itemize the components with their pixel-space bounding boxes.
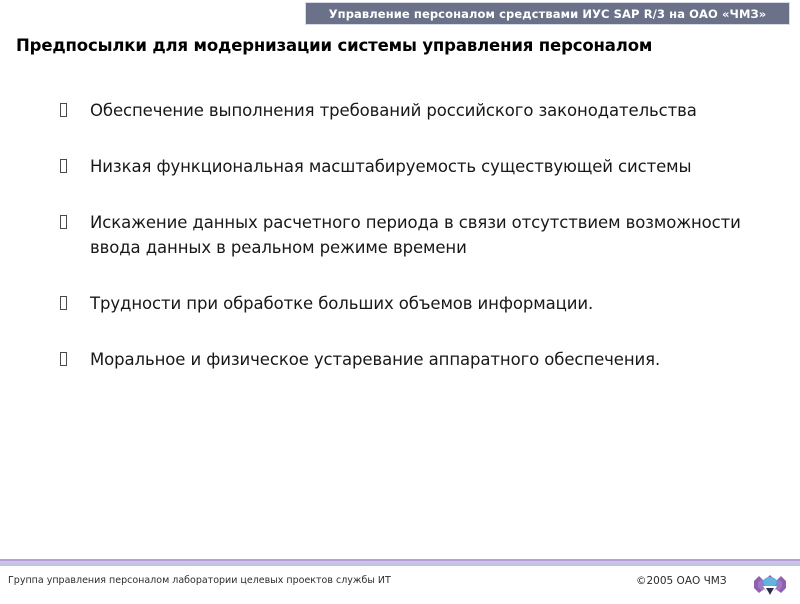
footer-copyright-text: ©2005 ОАО ЧМЗ	[636, 575, 727, 587]
list-item-label: Трудности при обработке больших объемов …	[90, 291, 760, 316]
list-item-label: Искажение данных расчетного периода в св…	[90, 210, 760, 260]
bullet-box-icon	[60, 98, 90, 121]
bullet-box-icon	[60, 154, 90, 177]
list-item-label: Обеспечение выполнения требований россий…	[90, 98, 760, 123]
header-banner: Управление персоналом средствами ИУС SAP…	[305, 2, 790, 25]
chmz-logo	[750, 572, 790, 600]
page-title: Предпосылки для модернизации системы упр…	[16, 36, 652, 55]
bullet-box-icon	[60, 347, 90, 370]
list-item: Обеспечение выполнения требований россий…	[60, 98, 760, 123]
list-item: Искажение данных расчетного периода в св…	[60, 210, 760, 260]
footer-divider	[0, 558, 800, 568]
bullet-box-icon	[60, 291, 90, 314]
list-item: Трудности при обработке больших объемов …	[60, 291, 760, 316]
list-item-label: Низкая функциональная масштабируемость с…	[90, 154, 760, 179]
bullet-list: Обеспечение выполнения требований россий…	[60, 98, 760, 372]
list-item: Низкая функциональная масштабируемость с…	[60, 154, 760, 179]
header-banner-text: Управление персоналом средствами ИУС SAP…	[329, 7, 767, 21]
list-item-label: Моральное и физическое устаревание аппар…	[90, 347, 760, 372]
footer: Группа управления персоналом лаборатории…	[0, 572, 800, 600]
list-item: Моральное и физическое устаревание аппар…	[60, 347, 760, 372]
footer-department-text: Группа управления персоналом лаборатории…	[8, 575, 391, 586]
bullet-box-icon	[60, 210, 90, 233]
